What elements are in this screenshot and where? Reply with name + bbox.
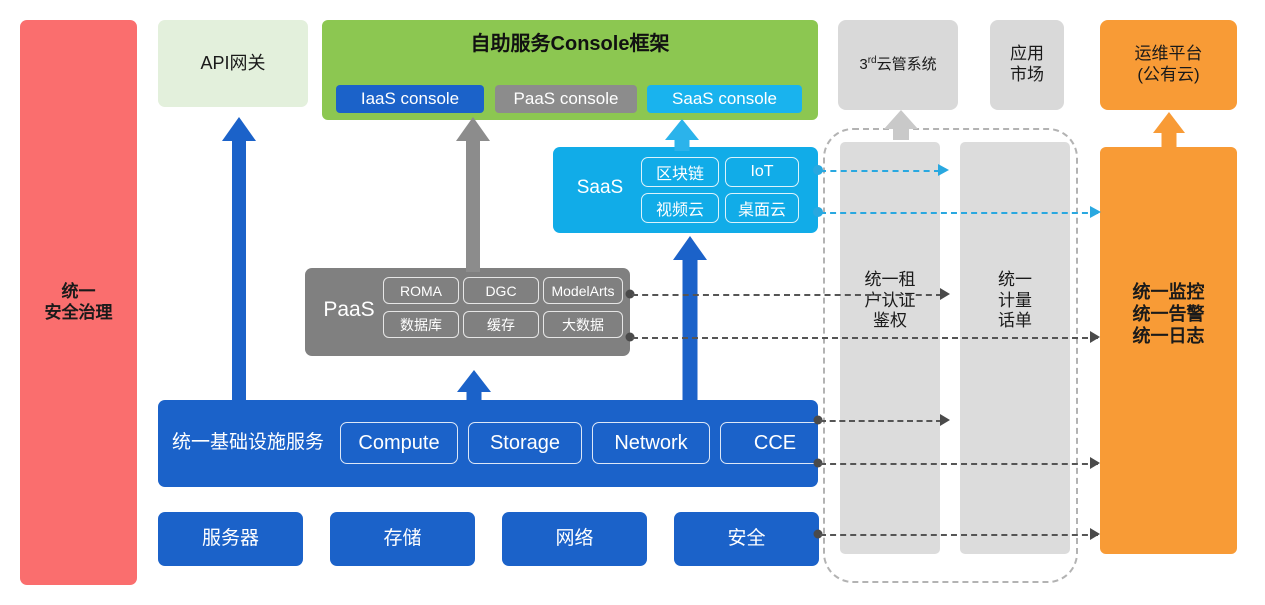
diagram-canvas: 统一 安全治理 API网关 自助服务Console框架 IaaS console… <box>0 0 1265 605</box>
saas-panel: SaaS 区块链 IoT 视频云 桌面云 <box>553 147 818 233</box>
third-party-cloud-management-box: 3rd云管系统 <box>838 20 958 110</box>
connector-infra-to-auth <box>820 420 942 422</box>
arrow-head-icon <box>1090 206 1101 218</box>
paas-panel: PaaS ROMA DGC ModelArts 数据库 缓存 大数据 <box>305 268 630 356</box>
auth-line-1: 统一租 <box>865 270 916 291</box>
arrow-shaft <box>683 258 698 404</box>
app-market-line-1: 应用 <box>1010 44 1044 65</box>
security-line-2: 安全治理 <box>45 303 113 324</box>
infra-pill-compute[interactable]: Compute <box>340 422 458 464</box>
monitoring-line-3: 统一日志 <box>1133 326 1205 348</box>
arrow-to-third-party-cloud <box>884 110 918 140</box>
third-party-prefix: 3 <box>859 56 867 73</box>
metering-line-3: 话单 <box>998 311 1032 332</box>
app-market-line-2: 市场 <box>1010 65 1044 86</box>
arrow-head-icon <box>1090 528 1100 540</box>
third-party-suffix: 云管系统 <box>877 56 937 73</box>
metering-line-1: 统一 <box>998 270 1032 291</box>
arrow-shaft <box>1162 131 1177 148</box>
ops-platform-box: 运维平台 (公有云) <box>1100 20 1237 110</box>
metering-line-2: 计量 <box>998 291 1032 312</box>
arrow-head-icon <box>222 117 256 141</box>
arrow-to-ops-platform <box>1153 112 1185 148</box>
unified-infrastructure-panel: 统一基础设施服务 Compute Storage Network CCE <box>158 400 818 487</box>
arrow-shaft <box>893 127 909 140</box>
auth-line-3: 鉴权 <box>865 311 916 332</box>
infra-pill-cce[interactable]: CCE <box>720 422 830 464</box>
paas-pill-bigdata[interactable]: 大数据 <box>543 311 623 338</box>
saas-label: SaaS <box>565 177 635 199</box>
arrow-head-icon <box>1090 331 1100 343</box>
saas-pill-blockchain[interactable]: 区块链 <box>641 157 719 187</box>
ops-platform-line-1: 运维平台 <box>1135 44 1203 65</box>
unified-security-governance-panel: 统一 安全治理 <box>20 20 137 585</box>
arrow-saas-to-console <box>665 119 699 151</box>
monitoring-line-1: 统一监控 <box>1133 282 1205 304</box>
arrow-head-icon <box>673 236 707 260</box>
resource-box-security[interactable]: 安全 <box>674 512 819 566</box>
arrow-head-icon <box>940 288 950 300</box>
connector-infra-to-ops <box>820 463 1098 465</box>
arrow-shaft <box>232 139 246 407</box>
iaas-console-chip[interactable]: IaaS console <box>336 85 484 113</box>
arrow-head-icon <box>665 119 699 140</box>
connector-paas-to-auth <box>632 294 942 296</box>
saas-pill-iot[interactable]: IoT <box>725 157 799 187</box>
infra-pill-storage[interactable]: Storage <box>468 422 582 464</box>
connector-resources-to-ops <box>820 534 1098 536</box>
saas-console-chip[interactable]: SaaS console <box>647 85 802 113</box>
paas-pill-roma[interactable]: ROMA <box>383 277 459 304</box>
arrow-head-icon <box>1090 457 1100 469</box>
unified-metering-billing-column: 统一 计量 话单 <box>960 142 1070 554</box>
arrow-paas-to-console <box>456 117 490 272</box>
connector-saas-to-ops <box>820 212 1098 214</box>
resource-box-storage[interactable]: 存储 <box>330 512 475 566</box>
infrastructure-label: 统一基础设施服务 <box>172 427 324 454</box>
paas-pill-database[interactable]: 数据库 <box>383 311 459 338</box>
self-service-console-framework-panel: 自助服务Console框架 IaaS console PaaS console … <box>322 20 818 120</box>
unified-tenant-auth-column: 统一租 户认证 鉴权 <box>840 142 940 554</box>
third-party-superscript: rd <box>868 55 877 66</box>
arrow-infra-to-paas <box>457 370 491 404</box>
connector-paas-to-ops <box>632 337 1098 339</box>
paas-pill-dgc[interactable]: DGC <box>463 277 539 304</box>
resource-box-network[interactable]: 网络 <box>502 512 647 566</box>
saas-pill-desktop-cloud[interactable]: 桌面云 <box>725 193 799 223</box>
arrow-head-icon <box>938 164 949 176</box>
api-gateway-label: API网关 <box>200 53 265 75</box>
arrow-head-icon <box>456 117 490 141</box>
arrow-infra-to-saas <box>673 236 707 404</box>
connector-saas-to-auth <box>820 170 940 172</box>
arrow-shaft <box>675 138 690 151</box>
paas-label: PaaS <box>313 298 385 322</box>
security-line-1: 统一 <box>45 282 113 303</box>
monitoring-line-2: 统一告警 <box>1133 304 1205 326</box>
unified-monitoring-panel: 统一监控 统一告警 统一日志 <box>1100 147 1237 554</box>
infra-pill-network[interactable]: Network <box>592 422 710 464</box>
ops-platform-line-2: (公有云) <box>1135 65 1203 86</box>
arrow-infra-to-api-gateway <box>222 117 256 407</box>
paas-pill-cache[interactable]: 缓存 <box>463 311 539 338</box>
paas-console-chip[interactable]: PaaS console <box>495 85 637 113</box>
arrow-shaft <box>467 390 482 404</box>
app-market-box: 应用 市场 <box>990 20 1064 110</box>
api-gateway-box: API网关 <box>158 20 308 107</box>
arrow-head-icon <box>1153 112 1185 133</box>
arrow-head-icon <box>940 414 950 426</box>
arrow-head-icon <box>457 370 491 392</box>
console-framework-title: 自助服务Console框架 <box>322 27 818 56</box>
resource-box-server[interactable]: 服务器 <box>158 512 303 566</box>
paas-pill-modelarts[interactable]: ModelArts <box>543 277 623 304</box>
saas-pill-video-cloud[interactable]: 视频云 <box>641 193 719 223</box>
arrow-shaft <box>466 139 480 272</box>
